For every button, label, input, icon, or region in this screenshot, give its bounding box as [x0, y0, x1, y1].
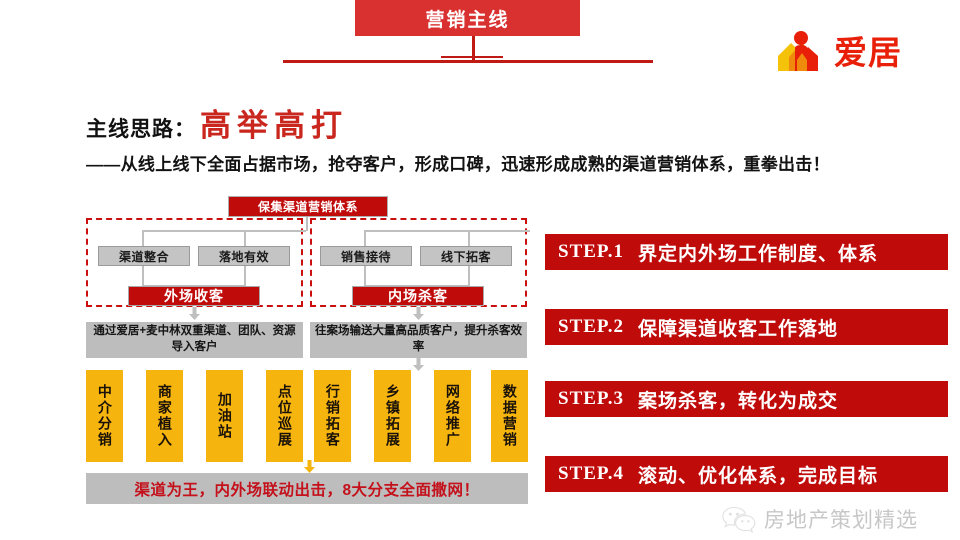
down-arrow-inner-icon	[413, 307, 424, 320]
connector-inner-leaf-right-down	[468, 266, 470, 286]
branch-card-online-promotion: 网络推广	[434, 370, 471, 462]
leaf-node-sales-reception: 销售接待	[320, 246, 412, 266]
wechat-icon	[722, 506, 756, 533]
branch-card-data-marketing: 数据营销	[491, 370, 528, 462]
branch-label: 数据营销	[502, 384, 517, 448]
description-box-outer: 通过爱居+麦中林双重渠道、团队、资源导入客户	[86, 322, 303, 358]
branch-label: 行销拓客	[325, 384, 340, 448]
branch-card-agency-distribution: 中介分销	[86, 370, 123, 462]
leaf-label: 落地有效	[219, 248, 269, 265]
diagram-root-node: 保集渠道营销体系	[228, 196, 388, 217]
step-text: 保障渠道收客工作落地	[638, 314, 838, 341]
step-bar-2: STEP.2 保障渠道收客工作落地	[545, 309, 948, 345]
result-node-outer: 外场收客	[128, 286, 260, 306]
result-label: 外场收客	[164, 286, 224, 306]
step-number: STEP.2	[558, 316, 624, 338]
branch-label: 乡镇拓展	[385, 384, 400, 448]
watermark: 房地产策划精选	[722, 504, 918, 534]
description-text: 往案场输送大量高品质客户，提升杀客效率	[315, 324, 522, 355]
summary-bar: 渠道为王，内外场联动出击，8大分支全面撒网！	[86, 473, 528, 504]
summary-text: 渠道为王，内外场联动出击，8大分支全面撒网！	[134, 478, 479, 500]
branch-card-gas-station: 加油站	[206, 370, 243, 462]
connector-inner-right-drop	[468, 230, 470, 247]
connector-outer-left-drop	[142, 230, 144, 247]
step-bar-1: STEP.1 界定内外场工作制度、体系	[545, 234, 948, 270]
connector-inner-left-drop	[364, 230, 366, 247]
step-text: 界定内外场工作制度、体系	[638, 239, 878, 266]
step-bar-4: STEP.4 滚动、优化体系，完成目标	[545, 456, 948, 492]
channel-marketing-diagram: 保集渠道营销体系 渠道整合 落地有效 外场收客 通过爱居+麦中林双重渠道、团队、…	[0, 0, 540, 540]
step-number: STEP.4	[558, 463, 624, 485]
result-node-inner: 内场杀客	[352, 286, 484, 306]
branch-label: 点位巡展	[277, 384, 292, 448]
steps-column: STEP.1 界定内外场工作制度、体系 STEP.2 保障渠道收客工作落地 ST…	[540, 0, 960, 540]
leaf-label: 渠道整合	[119, 248, 169, 265]
step-number: STEP.1	[558, 241, 624, 263]
connector-outer-right-drop	[244, 230, 246, 247]
branch-label: 网络推广	[445, 384, 460, 448]
step-number: STEP.3	[558, 388, 624, 410]
branch-card-township-expansion: 乡镇拓展	[374, 370, 411, 462]
branch-label: 加油站	[217, 392, 232, 440]
connector-outer-leaf-right-down	[244, 266, 246, 286]
connector-root-trunk	[306, 217, 308, 231]
branch-card-row: 中介分销 商家植入 加油站 点位巡展 行销拓客 乡镇拓展 网络推广 数据营销	[86, 370, 528, 462]
step-text: 案场杀客，转化为成交	[638, 386, 838, 413]
diagram-root-label: 保集渠道营销体系	[258, 198, 358, 215]
watermark-text: 房地产策划精选	[764, 504, 918, 534]
description-box-inner: 往案场输送大量高品质客户，提升杀客效率	[310, 322, 527, 358]
step-text: 滚动、优化体系，完成目标	[638, 461, 878, 488]
down-arrow-outer-icon	[189, 307, 200, 320]
branch-card-field-marketing: 行销拓客	[314, 370, 351, 462]
branch-card-merchant-embedding: 商家植入	[146, 370, 183, 462]
connector-outer-horizontal	[142, 230, 306, 232]
leaf-node-channel-integration: 渠道整合	[98, 246, 190, 266]
connector-inner-horizontal	[364, 230, 530, 232]
branch-label: 商家植入	[157, 384, 172, 448]
step-bar-3: STEP.3 案场杀客，转化为成交	[545, 381, 948, 417]
connector-inner-leaf-left-down	[364, 266, 366, 286]
result-label: 内场杀客	[388, 286, 448, 306]
connector-outer-leaf-left-down	[142, 266, 144, 286]
leaf-node-offline-expansion: 线下拓客	[420, 246, 512, 266]
leaf-node-effective-landing: 落地有效	[198, 246, 290, 266]
leaf-label: 销售接待	[341, 248, 391, 265]
description-text: 通过爱居+麦中林双重渠道、团队、资源导入客户	[91, 324, 298, 355]
branch-label: 中介分销	[97, 384, 112, 448]
branch-card-spot-roadshow: 点位巡展	[266, 370, 303, 462]
leaf-label: 线下拓客	[441, 248, 491, 265]
